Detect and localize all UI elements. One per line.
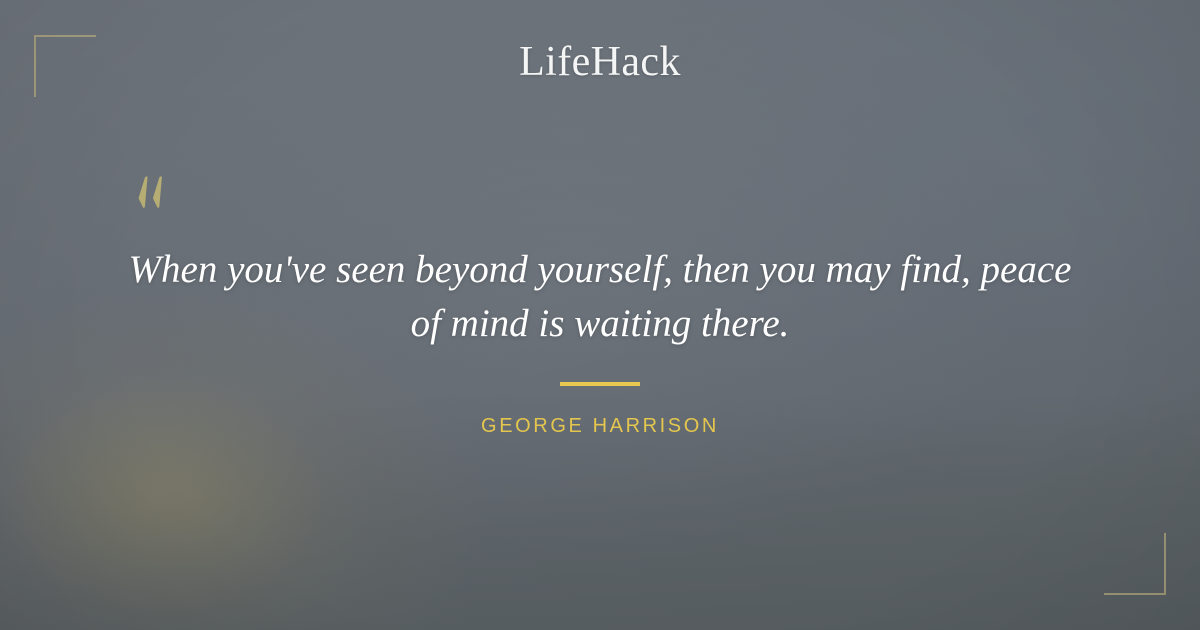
- quote-author: GEORGE HARRISON: [0, 412, 1200, 440]
- quote-line: When you've seen beyond yourself, then y…: [100, 243, 1100, 297]
- brand-logo: LifeHack: [0, 36, 1200, 88]
- corner-bracket-bottom-right-icon: [1104, 533, 1166, 595]
- quote-text: When you've seen beyond yourself, then y…: [100, 243, 1100, 351]
- quote-line: of mind is waiting there.: [100, 297, 1100, 351]
- double-quote-icon: [133, 172, 179, 218]
- quote-divider: [560, 382, 640, 386]
- quote-card: LifeHack When you've seen beyond yoursel…: [0, 0, 1200, 630]
